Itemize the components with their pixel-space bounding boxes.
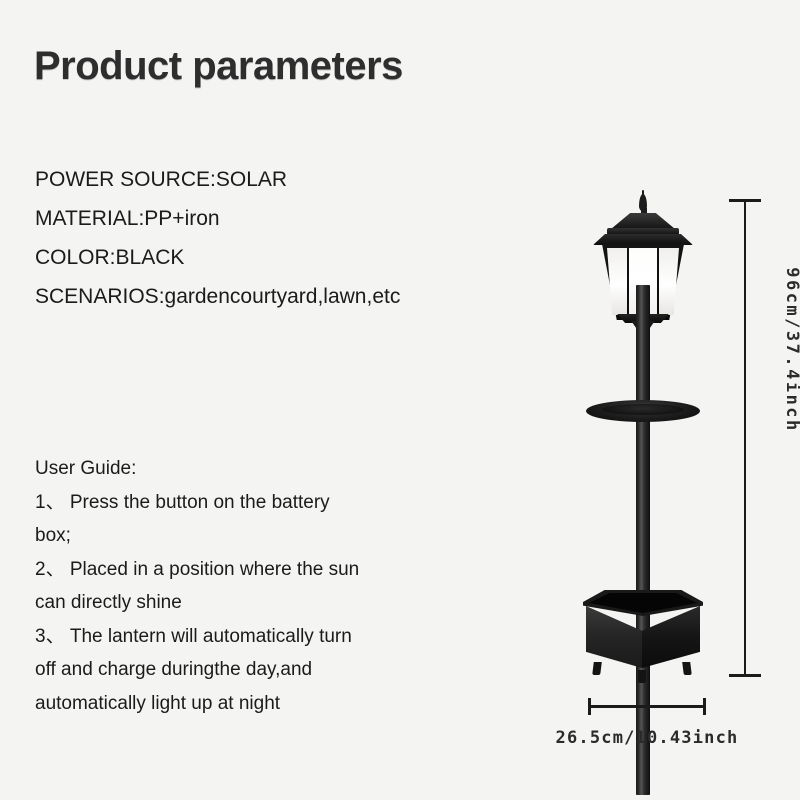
planter-foot <box>638 670 646 683</box>
planter-foot <box>682 662 692 675</box>
user-guide-line: 1、 Press the button on the battery <box>35 486 455 520</box>
user-guide-line: can directly shine <box>35 586 455 620</box>
planter-opening <box>589 593 697 613</box>
user-guide-line: 3、 The lantern will automatically turn <box>35 620 455 654</box>
specification-list: POWER SOURCE:SOLAR MATERIAL:PP+iron COLO… <box>35 160 505 316</box>
user-guide-line: 2、 Placed in a position where the sun <box>35 553 455 587</box>
mid-tray-inner <box>602 404 684 415</box>
user-guide-line: box; <box>35 519 455 553</box>
planter-box <box>583 590 703 680</box>
width-dimension-label: 26.5cm/10.43inch <box>530 728 764 748</box>
lantern-glass-pane <box>607 248 627 315</box>
lantern-cap <box>611 213 675 229</box>
page-title: Product parameters <box>34 44 403 89</box>
user-guide-section: User Guide: 1、 Press the button on the b… <box>35 452 455 720</box>
width-dimension-cap-right <box>703 698 706 715</box>
spec-item-scenarios: SCENARIOS:gardencourtyard,lawn,etc <box>35 277 505 316</box>
lantern-brim <box>593 234 693 245</box>
user-guide-heading: User Guide: <box>35 452 455 486</box>
lamp-post-pole <box>636 285 650 795</box>
product-image <box>555 185 745 695</box>
planter-face <box>642 606 700 668</box>
height-dimension-line <box>744 200 746 676</box>
spec-item-color: COLOR:BLACK <box>35 238 505 277</box>
user-guide-line: off and charge duringthe day,and <box>35 653 455 687</box>
product-parameters-page: Product parameters POWER SOURCE:SOLAR MA… <box>0 0 800 800</box>
height-dimension-label: 96cm/37.4inch <box>782 260 800 440</box>
spec-item-power-source: POWER SOURCE:SOLAR <box>35 160 505 199</box>
lantern-cap-band <box>607 228 679 235</box>
height-dimension-cap-bottom <box>729 674 761 677</box>
lantern-glass-pane <box>659 248 679 315</box>
width-dimension-line <box>588 705 706 708</box>
planter-face <box>586 606 642 668</box>
planter-foot <box>592 662 602 675</box>
spec-item-material: MATERIAL:PP+iron <box>35 199 505 238</box>
user-guide-line: automatically light up at night <box>35 687 455 721</box>
